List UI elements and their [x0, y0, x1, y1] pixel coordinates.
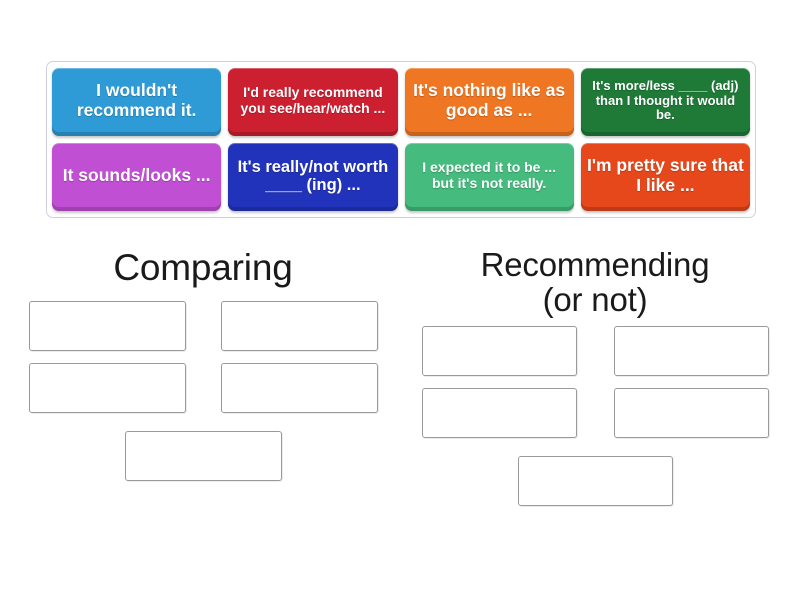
recommending-slot-3[interactable]: [422, 388, 577, 438]
answer-tile-3-label: It's nothing like as good as ...: [411, 81, 568, 120]
answer-tile-5[interactable]: It sounds/looks ...: [52, 143, 221, 211]
answer-tile-2-label: I'd really recommend you see/hear/watch …: [234, 85, 391, 116]
answer-tile-8[interactable]: I'm pretty sure that I like ...: [581, 143, 750, 211]
answer-tiles-tray: I wouldn't recommend it. I'd really reco…: [46, 61, 756, 218]
answer-tile-3[interactable]: It's nothing like as good as ...: [405, 68, 574, 136]
recommending-slot-2[interactable]: [614, 326, 769, 376]
answer-tile-2[interactable]: I'd really recommend you see/hear/watch …: [228, 68, 397, 136]
group-comparing-title: Comparing: [20, 248, 386, 287]
answer-tile-1-label: I wouldn't recommend it.: [58, 81, 215, 120]
group-comparing-dropzones: [20, 301, 386, 481]
group-recommending: Recommending (or not): [412, 248, 778, 506]
answer-tile-1[interactable]: I wouldn't recommend it.: [52, 68, 221, 136]
group-recommending-title: Recommending (or not): [412, 248, 778, 318]
comparing-slot-2[interactable]: [221, 301, 378, 351]
comparing-slot-5[interactable]: [125, 431, 282, 481]
answer-tile-4[interactable]: It's more/less ____ (adj) than I thought…: [581, 68, 750, 136]
tile-grid: I wouldn't recommend it. I'd really reco…: [52, 68, 750, 211]
answer-tile-8-label: I'm pretty sure that I like ...: [587, 156, 744, 195]
comparing-slot-1[interactable]: [29, 301, 186, 351]
comparing-slot-4[interactable]: [221, 363, 378, 413]
answer-tile-7[interactable]: I expected it to be ... but it's not rea…: [405, 143, 574, 211]
recommending-slot-4[interactable]: [614, 388, 769, 438]
answer-tile-5-label: It sounds/looks ...: [58, 166, 215, 186]
answer-tile-4-label: It's more/less ____ (adj) than I thought…: [587, 79, 744, 123]
group-comparing: Comparing: [20, 248, 386, 481]
recommending-slot-1[interactable]: [422, 326, 577, 376]
activity-canvas: I wouldn't recommend it. I'd really reco…: [0, 0, 800, 600]
answer-tile-6-label: It's really/not worth ____ (ing) ...: [234, 158, 391, 195]
comparing-slot-3[interactable]: [29, 363, 186, 413]
answer-tile-6[interactable]: It's really/not worth ____ (ing) ...: [228, 143, 397, 211]
recommending-slot-5[interactable]: [518, 456, 673, 506]
answer-tile-7-label: I expected it to be ... but it's not rea…: [411, 160, 568, 191]
group-recommending-dropzones: [412, 326, 778, 506]
